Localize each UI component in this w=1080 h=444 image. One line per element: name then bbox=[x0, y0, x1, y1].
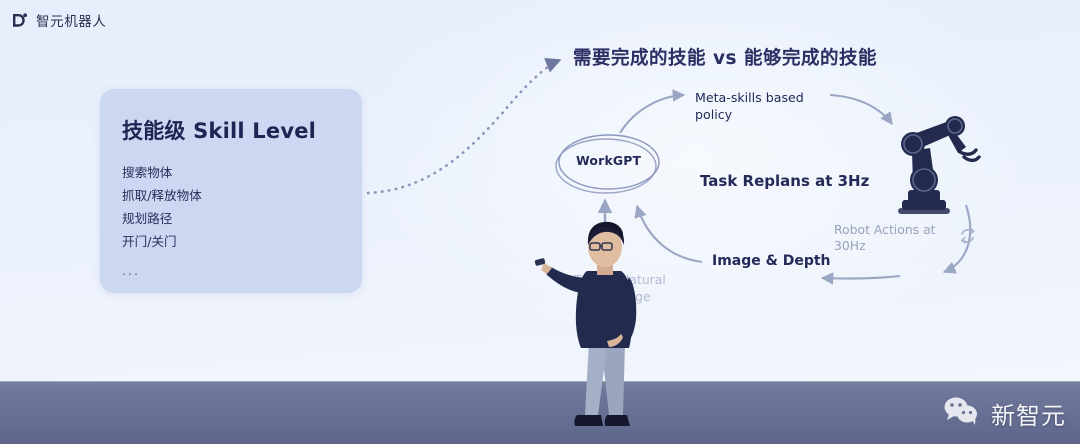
arrow-actions-to-image bbox=[822, 276, 900, 279]
wechat-icon bbox=[942, 395, 982, 432]
refresh-cycle-icon bbox=[962, 228, 974, 242]
robotic-arm-icon bbox=[880, 104, 1000, 224]
diagram-label-task-replans: Task Replans at 3Hz bbox=[700, 172, 869, 190]
channel-watermark: 新智元 bbox=[942, 395, 1066, 432]
diagram-label-workgpt: WorkGPT bbox=[576, 153, 641, 168]
diagram-label-image-depth: Image & Depth bbox=[712, 252, 831, 270]
diagram-label-robot-actions: Robot Actions at 30Hz bbox=[834, 222, 954, 254]
presenter-silhouette bbox=[533, 219, 665, 441]
dotted-curve-arrow-icon bbox=[368, 60, 560, 193]
arrow-workgpt-to-meta bbox=[620, 95, 684, 133]
watermark-text: 新智元 bbox=[991, 396, 1066, 431]
slide-photo-frame: 智元机器人 技能级 Skill Level 搜索物体 抓取/释放物体 规划路径 … bbox=[0, 0, 1080, 444]
diagram-label-meta-skills: Meta-skills based policy bbox=[695, 89, 820, 123]
